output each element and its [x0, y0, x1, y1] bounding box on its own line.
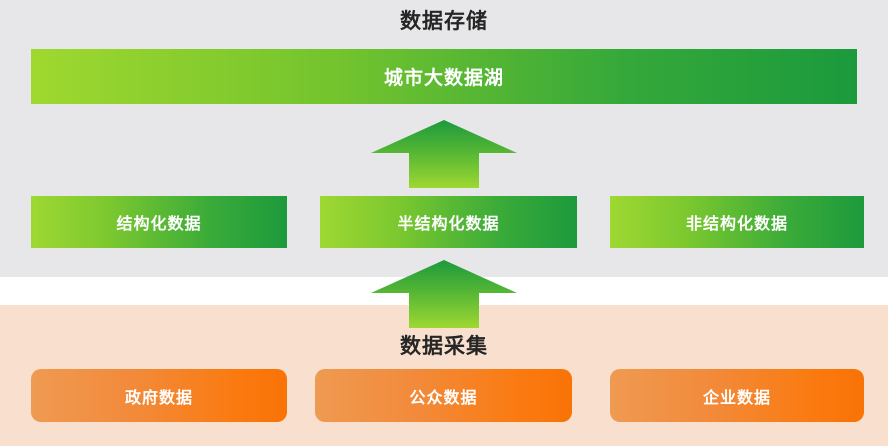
arrow-up-to-data-types-icon: [369, 258, 519, 335]
storage-section-title: 数据存储: [0, 8, 888, 36]
data-source-label-enterprise: 企业数据: [703, 384, 771, 408]
arrow-up-to-lake-icon: [369, 118, 519, 195]
collection-section-title: 数据采集: [0, 333, 888, 361]
data-type-box-unstructured[interactable]: 非结构化数据: [610, 196, 864, 248]
data-source-box-government[interactable]: 政府数据: [31, 369, 287, 422]
data-type-label-semi-structured: 半结构化数据: [397, 210, 499, 234]
data-source-label-government: 政府数据: [125, 384, 193, 408]
data-type-box-semi-structured[interactable]: 半结构化数据: [320, 196, 577, 248]
city-data-lake-bar[interactable]: 城市大数据湖: [31, 49, 857, 104]
diagram-canvas: 数据存储 城市大数据湖 结构化数据 半结构化数据 非结构化数据: [0, 0, 888, 446]
data-source-label-public: 公众数据: [409, 384, 477, 408]
city-data-lake-label: 城市大数据湖: [384, 63, 504, 90]
data-type-label-unstructured: 非结构化数据: [686, 210, 788, 234]
data-type-box-structured[interactable]: 结构化数据: [31, 196, 287, 248]
data-type-label-structured: 结构化数据: [116, 210, 201, 234]
data-source-box-enterprise[interactable]: 企业数据: [610, 369, 864, 422]
data-source-box-public[interactable]: 公众数据: [315, 369, 572, 422]
